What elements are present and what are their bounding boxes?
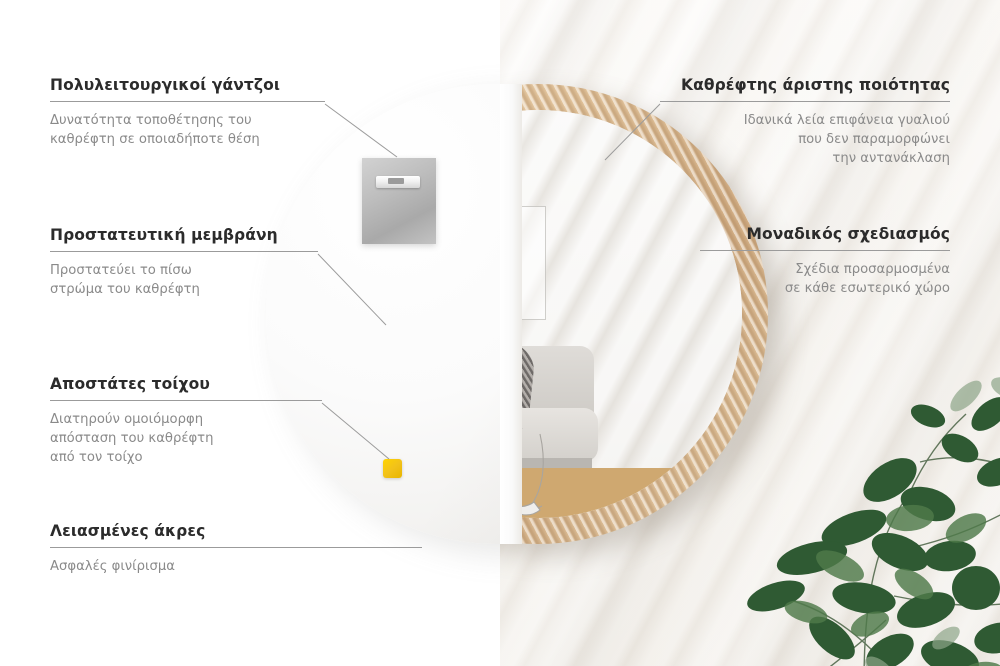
- callout-design-rule: [700, 250, 950, 251]
- callout-quality: Καθρέφτης άριστης ποιότητας Ιδανικά λεία…: [660, 76, 950, 168]
- callout-design: Μοναδικός σχεδιασμός Σχέδια προσαρμοσμέν…: [700, 225, 950, 298]
- callout-hooks-rule: [50, 101, 325, 102]
- callout-quality-title: Καθρέφτης άριστης ποιότητας: [660, 76, 950, 94]
- callout-hooks: Πολυλειτουργικοί γάντζοι Δυνατότητα τοπο…: [50, 76, 325, 149]
- callout-quality-desc: Ιδανικά λεία επιφάνεια γυαλιούπου δεν πα…: [660, 111, 950, 168]
- mirror-glass: [500, 110, 742, 518]
- callout-hooks-desc: Δυνατότητα τοποθέτησης τουκαθρέφτη σε οπ…: [50, 111, 325, 149]
- callout-spacers-desc: Διατηρούν ομοιόμορφηαπόσταση του καθρέφτ…: [50, 410, 322, 467]
- callout-quality-rule: [660, 101, 950, 102]
- callout-design-title: Μοναδικός σχεδιασμός: [700, 225, 950, 243]
- plant-foliage: [714, 352, 1000, 666]
- callout-design-desc: Σχέδια προσαρμοσμένασε κάθε εσωτερικό χώ…: [700, 260, 950, 298]
- callout-hooks-title: Πολυλειτουργικοί γάντζοι: [50, 76, 325, 94]
- callout-membrane: Προστατευτική μεμβράνη Προστατεύει το πί…: [50, 226, 318, 299]
- callout-membrane-rule: [50, 251, 318, 252]
- callout-edges: Λειασμένες άκρες Ασφαλές φινίρισμα: [50, 522, 422, 576]
- callout-membrane-title: Προστατευτική μεμβράνη: [50, 226, 318, 244]
- callout-edges-rule: [50, 547, 422, 548]
- callout-spacers-title: Αποστάτες τοίχου: [50, 375, 322, 393]
- callout-edges-desc: Ασφαλές φινίρισμα: [50, 557, 422, 576]
- mirror-cross-section-edge: [500, 84, 522, 544]
- wall-spacer-marker: [383, 459, 402, 478]
- hook-slot-icon: [388, 178, 404, 184]
- callout-membrane-desc: Προστατεύει το πίσωστρώμα του καθρέφτη: [50, 261, 318, 299]
- product-infographic: Πολυλειτουργικοί γάντζοι Δυνατότητα τοπο…: [0, 0, 1000, 666]
- callout-spacers: Αποστάτες τοίχου Διατηρούν ομοιόμορφηαπό…: [50, 375, 322, 467]
- callout-edges-title: Λειασμένες άκρες: [50, 522, 422, 540]
- callout-spacers-rule: [50, 400, 322, 401]
- hook-detail-swatch: [362, 158, 436, 244]
